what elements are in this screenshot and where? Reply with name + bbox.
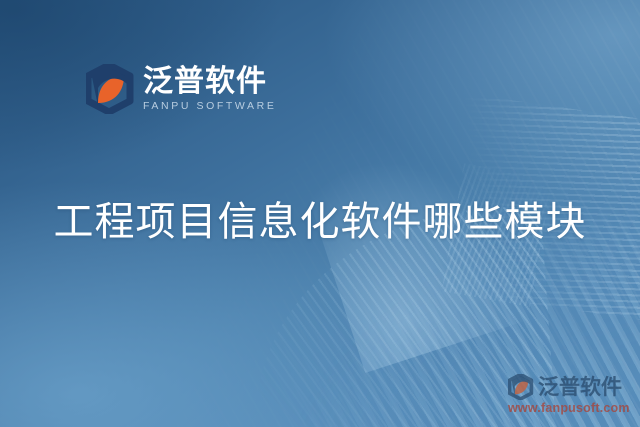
brand-logo: 泛普软件 FANPU SOFTWARE — [86, 64, 276, 114]
watermark-logo-row: 泛普软件 — [508, 374, 638, 400]
watermark: 泛普软件 www.fanpusoft.com — [508, 374, 638, 422]
promo-banner: 泛普软件 FANPU SOFTWARE 工程项目信息化软件哪些模块 泛普软件 w… — [0, 0, 640, 427]
brand-name-cn: 泛普软件 — [143, 67, 276, 97]
brand-logo-text: 泛普软件 FANPU SOFTWARE — [143, 67, 276, 112]
watermark-brand-name: 泛普软件 — [538, 377, 622, 398]
fanpu-hexagon-logo-icon — [86, 64, 134, 114]
brand-name-en: FANPU SOFTWARE — [143, 101, 276, 112]
watermark-url: www.fanpusoft.com — [508, 402, 638, 415]
fanpu-hexagon-logo-icon — [508, 374, 534, 400]
banner-title: 工程项目信息化软件哪些模块 — [0, 200, 640, 245]
